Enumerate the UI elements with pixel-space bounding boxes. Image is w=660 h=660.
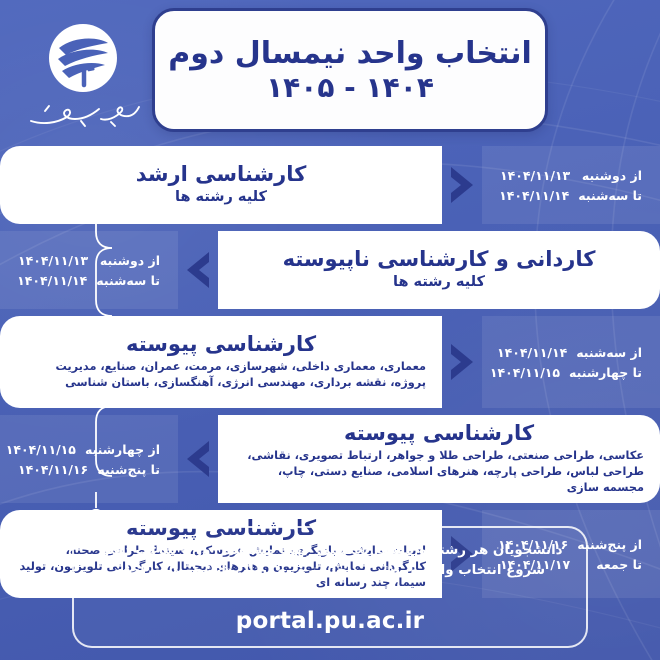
date-to-label: تا پنج‌شنبه	[97, 462, 160, 477]
page-title: انتخاب واحد نیمسال دوم	[168, 37, 532, 71]
date-from: از چهارشنبه ۱۴۰۴/۱۱/۱۵	[18, 442, 160, 457]
row-majors: معماری، معماری داخلی، شهرسازی، مرمت، عمر…	[16, 359, 426, 391]
date-to-label: تا سه‌شنبه	[96, 273, 160, 288]
date-from-value: ۱۴۰۴/۱۱/۱۴	[497, 345, 567, 360]
date-to-value: ۱۴۰۴/۱۱/۱۶	[18, 462, 88, 477]
logo-caption	[23, 99, 143, 129]
poster-header: انتخاب واحد نیمسال دوم ۱۴۰۵ - ۱۴۰۴	[0, 0, 660, 142]
row-title: کارشناسی پیوسته	[344, 422, 534, 446]
chevron-left-icon	[178, 231, 218, 309]
date-from-value: ۱۴۰۴/۱۱/۱۳	[18, 253, 89, 268]
logo-emblem-icon	[46, 21, 120, 95]
row-kardani-karshenasi-napeyvasteh[interactable]: از دوشنبه ۱۴۰۴/۱۱/۱۳ تا سه‌شنبه ۱۴۰۴/۱۱/…	[0, 231, 660, 309]
poster-root: انتخاب واحد نیمسال دوم ۱۴۰۵ - ۱۴۰۴	[0, 0, 660, 660]
row-karshenasi-peyvasteh-honar[interactable]: از چهارشنبه ۱۴۰۴/۱۱/۱۵ تا پنج‌شنبه ۱۴۰۴/…	[0, 415, 660, 503]
row-dates: از چهارشنبه ۱۴۰۴/۱۱/۱۵ تا پنج‌شنبه ۱۴۰۴/…	[0, 415, 178, 503]
row-dates: از دوشنبه ۱۴۰۴/۱۱/۱۳ تا سه‌شنبه ۱۴۰۴/۱۱/…	[0, 231, 178, 309]
date-to-label: تا جمعه	[580, 557, 642, 572]
row-majors: عکاسی، طراحی صنعتی، طراحی طلا و جواهر، ا…	[234, 448, 644, 496]
date-from: از دوشنبه ۱۴۰۴/۱۱/۱۳	[18, 253, 160, 268]
footer-note: دانشجویان هر رشته و مقطع تحصیلی جهت مشاه…	[72, 526, 588, 648]
row-title: کاردانی و کارشناسی ناپیوسته	[283, 248, 596, 272]
row-subtitle: کلیه رشته ها	[175, 187, 267, 207]
title-card: انتخاب واحد نیمسال دوم ۱۴۰۵ - ۱۴۰۴	[152, 8, 548, 132]
row-dates: از دوشنبه ۱۴۰۴/۱۱/۱۳ تا سه‌شنبه ۱۴۰۴/۱۱/…	[482, 146, 660, 224]
date-to-value: ۱۴۰۴/۱۱/۱۵	[490, 365, 560, 380]
row-card: کارشناسی پیوسته معماری، معماری داخلی، شه…	[0, 316, 442, 408]
date-to-label: تا سه‌شنبه	[578, 188, 642, 203]
date-from-value: ۱۴۰۴/۱۱/۱۵	[6, 442, 76, 457]
row-title: کارشناسی ارشد	[136, 163, 307, 187]
row-subtitle: کلیه رشته ها	[393, 272, 485, 292]
date-to-label: تا چهارشنبه	[569, 365, 642, 380]
date-from-label: از چهارشنبه	[85, 442, 160, 457]
date-to: تا سه‌شنبه ۱۴۰۴/۱۱/۱۴	[18, 273, 160, 288]
chevron-left-icon	[178, 415, 218, 503]
date-to-value: ۱۴۰۴/۱۱/۱۴	[17, 273, 87, 288]
footer-text: دانشجویان هر رشته و مقطع تحصیلی جهت مشاه…	[92, 541, 568, 603]
date-from-label: از سه‌شنبه	[576, 345, 642, 360]
date-from-label: از دوشنبه	[98, 253, 160, 268]
date-from-label: از دوشنبه	[580, 168, 642, 183]
date-to: تا چهارشنبه ۱۴۰۴/۱۱/۱۵	[500, 365, 642, 380]
date-to: تا پنج‌شنبه ۱۴۰۴/۱۱/۱۶	[18, 462, 160, 477]
row-card: کاردانی و کارشناسی ناپیوسته کلیه رشته ها	[218, 231, 660, 309]
date-from: از دوشنبه ۱۴۰۴/۱۱/۱۳	[500, 168, 642, 183]
row-card: کارشناسی پیوسته عکاسی، طراحی صنعتی، طراح…	[218, 415, 660, 503]
row-title: کارشناسی پیوسته	[126, 333, 316, 357]
row-card: کارشناسی ارشد کلیه رشته ها	[0, 146, 442, 224]
date-from: از سه‌شنبه ۱۴۰۴/۱۱/۱۴	[500, 345, 642, 360]
chevron-right-icon	[442, 146, 482, 224]
date-to-value: ۱۴۰۴/۱۱/۱۴	[499, 188, 569, 203]
university-logo	[22, 16, 144, 134]
date-from-value: ۱۴۰۴/۱۱/۱۳	[500, 168, 571, 183]
row-karshenasi-peyvasteh-fanni[interactable]: از سه‌شنبه ۱۴۰۴/۱۱/۱۴ تا چهارشنبه ۱۴۰۴/۱…	[0, 316, 660, 408]
date-to: تا سه‌شنبه ۱۴۰۴/۱۱/۱۴	[500, 188, 642, 203]
row-karshenasi-arshad[interactable]: از دوشنبه ۱۴۰۴/۱۱/۱۳ تا سه‌شنبه ۱۴۰۴/۱۱/…	[0, 146, 660, 224]
academic-year: ۱۴۰۵ - ۱۴۰۴	[266, 72, 434, 103]
row-dates: از سه‌شنبه ۱۴۰۴/۱۱/۱۴ تا چهارشنبه ۱۴۰۴/۱…	[482, 316, 660, 408]
chevron-right-icon	[442, 316, 482, 408]
portal-url[interactable]: portal.pu.ac.ir	[236, 608, 424, 634]
